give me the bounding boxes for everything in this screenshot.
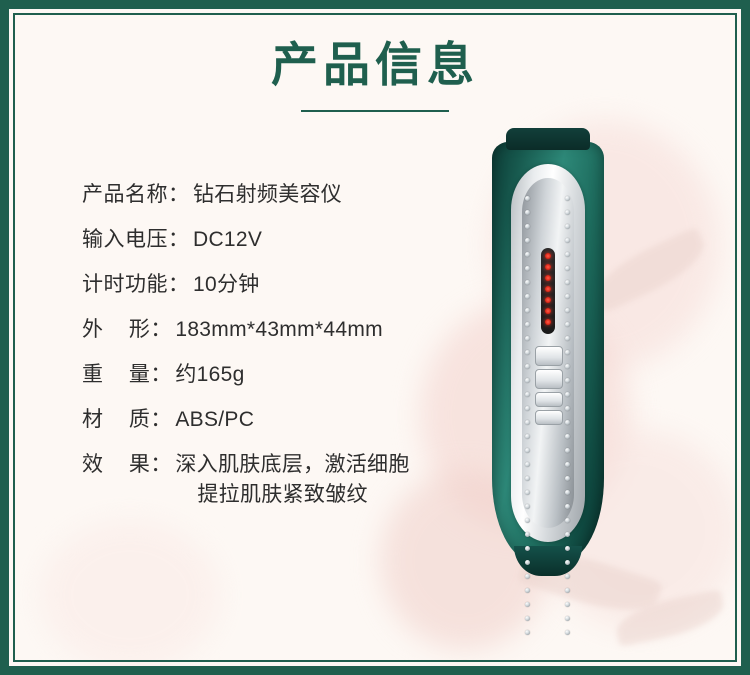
spec-label: 重 量: [82, 360, 150, 390]
spec-list: 产品名称 ： 钻石射频美容仪 输入电压 ： DC12V 计时功能 ： 10分钟 …: [82, 180, 512, 525]
spec-value: DC12V: [193, 225, 262, 255]
spec-colon: ：: [168, 180, 193, 210]
spec-value: 深入肌肤底层，激活细胞 提拉肌肤紧致皱纹: [175, 450, 409, 510]
device-panel-inner: [522, 178, 574, 528]
spec-row: 输入电压 ： DC12V: [82, 225, 512, 255]
spec-row: 计时功能 ： 10分钟: [82, 270, 512, 300]
spec-value: 183mm*43mm*44mm: [175, 315, 383, 345]
spec-row: 产品名称 ： 钻石射频美容仪: [82, 180, 512, 210]
spec-label: 材 质: [82, 405, 150, 435]
device-front-panel: [511, 164, 585, 542]
page-title: 产品信息: [0, 38, 750, 92]
spec-colon: ：: [150, 315, 175, 345]
spec-colon: ：: [150, 450, 175, 480]
spec-row: 效 果 ： 深入肌肤底层，激活细胞 提拉肌肤紧致皱纹: [82, 450, 512, 510]
spec-colon: ：: [150, 360, 175, 390]
spec-row: 材 质 ： ABS/PC: [82, 405, 512, 435]
spec-label: 外 形: [82, 315, 150, 345]
spec-value: ABS/PC: [175, 405, 254, 435]
device-button-1: [535, 346, 563, 366]
device-button-3: [535, 392, 563, 407]
spec-colon: ：: [168, 270, 193, 300]
spec-value: 约165g: [175, 360, 244, 390]
device-buttons: [535, 346, 563, 428]
product-image: [492, 128, 604, 576]
red-led-strip: [541, 248, 555, 334]
spec-value: 钻石射频美容仪: [193, 180, 342, 210]
device-button-4: [535, 410, 563, 425]
spec-row: 外 形 ： 183mm*43mm*44mm: [82, 315, 512, 345]
device-button-2: [535, 369, 563, 389]
spec-colon: ：: [168, 225, 193, 255]
spec-colon: ：: [150, 405, 175, 435]
product-info-page: 产品信息 产品名称 ： 钻石射频美容仪 输入电压 ： DC12V 计时功能 ： …: [0, 0, 750, 675]
spec-value: 10分钟: [193, 270, 260, 300]
spec-label: 产品名称: [82, 180, 168, 210]
spec-label: 效 果: [82, 450, 150, 480]
spec-label: 计时功能: [82, 270, 168, 300]
diamond-dots-left: [525, 196, 531, 644]
spec-row: 重 量 ： 约165g: [82, 360, 512, 390]
spec-value-line-1: 深入肌肤底层，激活细胞: [175, 453, 409, 476]
spec-value-line-2: 提拉肌肤紧致皱纹: [175, 480, 409, 510]
title-underline: [301, 110, 449, 112]
page-title-block: 产品信息: [0, 38, 750, 112]
device-top-cap: [506, 128, 590, 150]
spec-label: 输入电压: [82, 225, 168, 255]
diamond-dots-right: [565, 196, 571, 644]
